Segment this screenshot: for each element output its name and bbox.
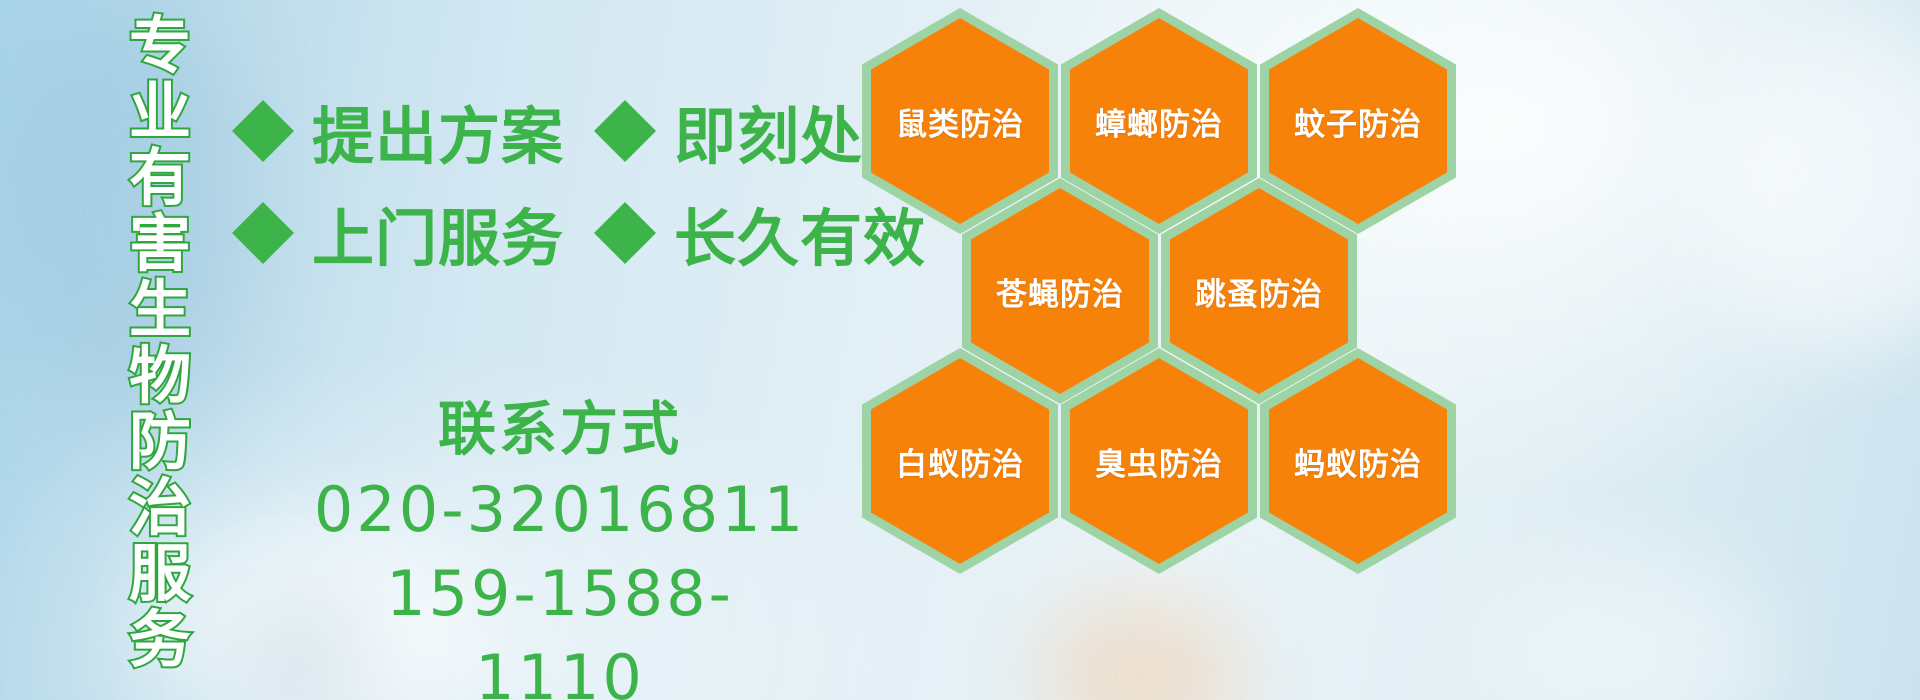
- service-honeycomb: 鼠类防治 蟑螂防治 蚊子防治 苍蝇防治 跳蚤防治 白蚁防治 臭虫防治 蚂蚁: [862, 0, 1462, 700]
- diamond-icon: [594, 171, 656, 233]
- feature-row: 上门服务 长久有效: [232, 182, 926, 284]
- service-label: 臭虫防治: [1095, 439, 1223, 484]
- vertical-headline: 专 业 有 害 生 物 防 治 服 务: [108, 14, 212, 686]
- feature-item-door-to-door-service: 上门服务: [232, 188, 564, 278]
- background-blob: [1700, 40, 1920, 340]
- feature-label: 上门服务: [312, 188, 564, 278]
- diamond-icon: [232, 69, 294, 131]
- promo-banner: 专 业 有 害 生 物 防 治 服 务 提出方案 即刻处理 上门服务: [0, 0, 1920, 700]
- vertical-headline-char: 生: [129, 278, 191, 344]
- service-label: 跳蚤防治: [1195, 269, 1323, 314]
- service-label: 蟑螂防治: [1095, 99, 1223, 144]
- feature-label: 提出方案: [312, 86, 564, 176]
- vertical-headline-char: 业: [129, 80, 191, 146]
- contact-phone-landline[interactable]: 020-32016811: [310, 468, 810, 552]
- service-label: 蚊子防治: [1294, 99, 1422, 144]
- vertical-headline-char: 服: [129, 542, 191, 608]
- vertical-headline-char: 防: [129, 410, 191, 476]
- service-label: 蚂蚁防治: [1294, 439, 1422, 484]
- service-label: 鼠类防治: [896, 99, 1024, 144]
- vertical-headline-char: 物: [129, 344, 191, 410]
- vertical-headline-char: 专: [129, 14, 191, 80]
- diamond-icon: [232, 171, 294, 233]
- service-label: 白蚁防治: [896, 439, 1024, 484]
- feature-list: 提出方案 即刻处理 上门服务 长久有效: [232, 80, 926, 284]
- contact-title: 联系方式: [310, 392, 810, 468]
- vertical-headline-char: 治: [129, 476, 191, 542]
- vertical-headline-char: 务: [129, 608, 191, 674]
- vertical-headline-char: 害: [129, 212, 191, 278]
- contact-block: 联系方式 020-32016811 159-1588-1110: [310, 392, 810, 700]
- feature-row: 提出方案 即刻处理: [232, 80, 926, 182]
- contact-phone-mobile[interactable]: 159-1588-1110: [310, 552, 810, 700]
- service-label: 苍蝇防治: [996, 269, 1124, 314]
- vertical-headline-char: 有: [129, 146, 191, 212]
- background-blob: [1480, 560, 1780, 700]
- diamond-icon: [594, 69, 656, 131]
- feature-item-propose-plan: 提出方案: [232, 86, 564, 176]
